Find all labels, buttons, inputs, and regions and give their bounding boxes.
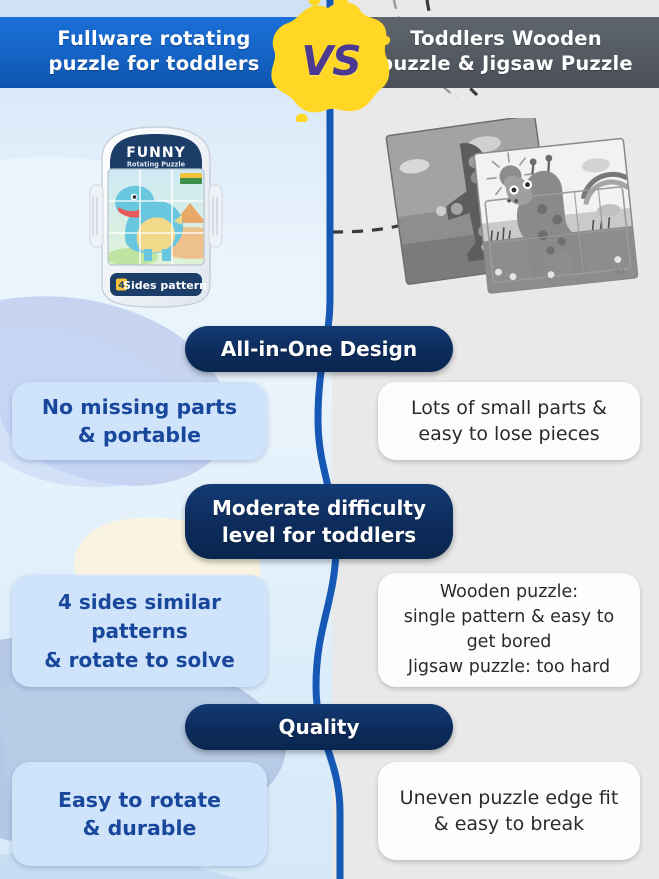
feature-band-2-line2: level for toddlers	[212, 522, 426, 549]
pro-box-2: 4 sides similar patterns & rotate to sol…	[12, 575, 267, 687]
pro-box-2-line2: patterns	[44, 617, 235, 646]
header-title-right: Toddlers Wooden puzzle & Jigsaw Puzzle	[360, 26, 652, 76]
feature-band-difficulty: Moderate difficulty level for toddlers	[185, 484, 453, 559]
con-box-1: Lots of small parts & easy to lose piece…	[378, 382, 640, 460]
header-title-left-line1: Fullware rotating	[8, 26, 300, 51]
comparison-infographic: Fullware rotating puzzle for toddlers To…	[0, 0, 659, 879]
pro-box-1-line1: No missing parts	[42, 393, 237, 421]
con-box-1-line1: Lots of small parts &	[411, 395, 607, 421]
feature-band-all-in-one: All-in-One Design	[185, 326, 453, 372]
pro-box-1-line2: & portable	[42, 421, 237, 449]
header: Fullware rotating puzzle for toddlers To…	[0, 0, 659, 105]
con-box-3: Uneven puzzle edge fit & easy to break	[378, 762, 640, 860]
header-title-left: Fullware rotating puzzle for toddlers	[8, 26, 300, 76]
feature-band-3-label: Quality	[278, 715, 359, 739]
con-box-2: Wooden puzzle: single pattern & easy to …	[378, 573, 640, 687]
con-box-1-line2: easy to lose pieces	[411, 421, 607, 447]
product-image-wooden-puzzles: (c)	[378, 118, 650, 318]
svg-text:Sides pattern: Sides pattern	[123, 279, 207, 292]
pro-box-3-line2: & durable	[58, 814, 221, 842]
feature-band-2-line1: Moderate difficulty	[212, 495, 426, 522]
product-image-rotating-puzzle: FUNNY Rotating Puzzle	[82, 125, 230, 310]
con-box-3-line1: Uneven puzzle edge fit	[400, 785, 619, 811]
svg-text:Rotating Puzzle: Rotating Puzzle	[127, 161, 186, 169]
pro-box-2-line3: & rotate to solve	[44, 646, 235, 675]
con-box-2-line1: Wooden puzzle:	[404, 580, 615, 605]
pro-box-2-line1: 4 sides similar	[44, 588, 235, 617]
header-title-left-line2: puzzle for toddlers	[8, 51, 300, 76]
vs-badge: VS	[262, 0, 396, 122]
svg-text:(c): (c)	[615, 267, 625, 276]
feature-band-quality: Quality	[185, 704, 453, 750]
vs-label: VS	[262, 0, 396, 122]
con-box-2-line2: single pattern & easy to	[404, 605, 615, 630]
feature-band-1-label: All-in-One Design	[221, 337, 417, 361]
pro-box-3-line1: Easy to rotate	[58, 786, 221, 814]
svg-text:FUNNY: FUNNY	[126, 145, 186, 161]
pro-box-3: Easy to rotate & durable	[12, 762, 267, 866]
pro-box-1: No missing parts & portable	[12, 382, 267, 460]
con-box-2-line4: Jigsaw puzzle: too hard	[404, 655, 615, 680]
con-box-2-line3: get bored	[404, 630, 615, 655]
header-title-right-line1: Toddlers Wooden	[360, 26, 652, 51]
header-title-right-line2: puzzle & Jigsaw Puzzle	[360, 51, 652, 76]
con-box-3-line2: & easy to break	[400, 811, 619, 837]
